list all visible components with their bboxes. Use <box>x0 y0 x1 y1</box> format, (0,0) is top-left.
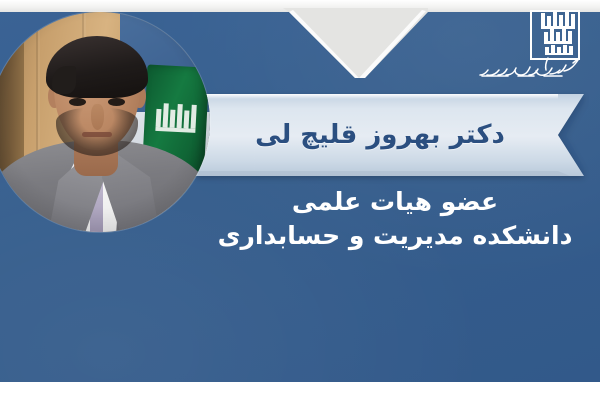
top-v-notch <box>283 8 428 78</box>
subtitle-block: عضو هیات علمی دانشکده مدیریت و حسابداری <box>200 186 590 252</box>
public-relations-calligraphy-icon <box>478 56 582 82</box>
university-seal-icon <box>530 10 580 60</box>
faculty-profile-card: دکتر بهروز قلیچ لی عضو هیات علمی دانشکده… <box>0 0 600 400</box>
university-logo <box>478 8 582 80</box>
faculty-name: دکتر بهروز قلیچ لی <box>196 94 564 176</box>
subtitle-faculty: دانشکده مدیریت و حسابداری <box>200 220 590 252</box>
bottom-white-band <box>0 382 600 400</box>
portrait-scene <box>0 12 210 232</box>
subtitle-role: عضو هیات علمی <box>200 186 590 218</box>
portrait-vignette <box>0 12 210 232</box>
avatar <box>0 12 210 232</box>
